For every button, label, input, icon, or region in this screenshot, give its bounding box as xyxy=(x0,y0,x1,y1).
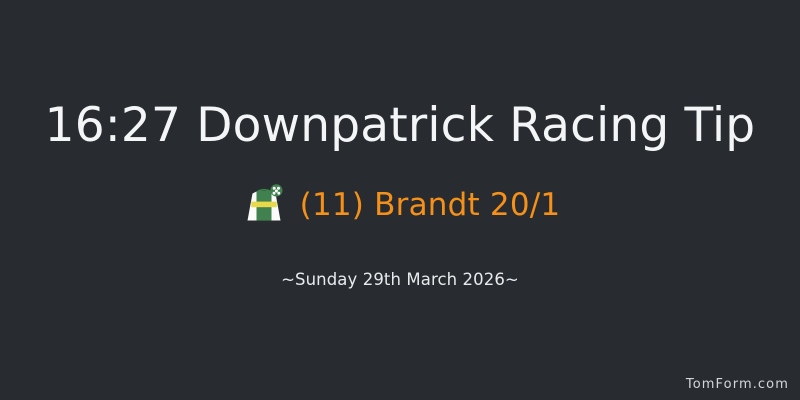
page-title: 16:27 Downpatrick Racing Tip xyxy=(45,98,756,154)
racing-silks-icon xyxy=(240,183,288,227)
selection-row: (11) Brandt 20/1 xyxy=(0,183,800,227)
selection-label: (11) Brandt 20/1 xyxy=(300,183,561,227)
title-row: 16:27 Downpatrick Racing Tip xyxy=(0,98,800,154)
race-date: ~Sunday 29th March 2026~ xyxy=(281,269,519,291)
date-row: ~Sunday 29th March 2026~ xyxy=(0,269,800,291)
racing-tip-card: 16:27 Downpatrick Racing Tip xyxy=(0,0,800,400)
footer: TomForm.com xyxy=(686,373,789,394)
site-watermark: TomForm.com xyxy=(686,376,789,394)
